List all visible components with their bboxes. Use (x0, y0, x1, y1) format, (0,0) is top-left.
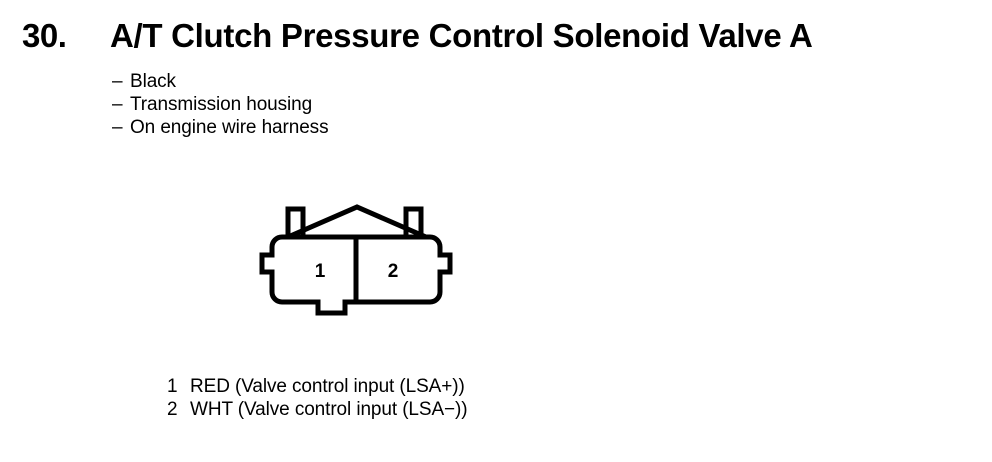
page-title: 30. A/T Clutch Pressure Control Solenoid… (22, 17, 972, 57)
list-item: – On engine wire harness (112, 116, 612, 139)
legend-pin-description-1: RED (Valve control input (LSA+)) (190, 375, 465, 398)
legend-pin-number-1: 1 (167, 375, 190, 398)
dash-bullet-icon: – (112, 93, 130, 116)
attribute-list: – Black – Transmission housing – On engi… (112, 70, 612, 139)
legend-row: 1 RED (Valve control input (LSA+)) (167, 375, 767, 398)
connector-svg: 1 2 (255, 195, 465, 325)
attribute-color: Black (130, 70, 176, 93)
item-title: A/T Clutch Pressure Control Solenoid Val… (110, 17, 813, 55)
list-item: – Transmission housing (112, 93, 612, 116)
list-item: – Black (112, 70, 612, 93)
pin-legend: 1 RED (Valve control input (LSA+)) 2 WHT… (167, 375, 767, 421)
legend-row: 2 WHT (Valve control input (LSA−)) (167, 398, 767, 421)
legend-pin-description-2: WHT (Valve control input (LSA−)) (190, 398, 468, 421)
dash-bullet-icon: – (112, 116, 130, 139)
cavity-number-1: 1 (315, 261, 326, 282)
cavity-number-2: 2 (388, 261, 399, 282)
item-number: 30. (22, 17, 110, 55)
page-root: 30. A/T Clutch Pressure Control Solenoid… (0, 0, 992, 462)
attribute-location: Transmission housing (130, 93, 312, 116)
connector-diagram: 1 2 (255, 195, 465, 325)
dash-bullet-icon: – (112, 70, 130, 93)
attribute-harness: On engine wire harness (130, 116, 328, 139)
legend-pin-number-2: 2 (167, 398, 190, 421)
